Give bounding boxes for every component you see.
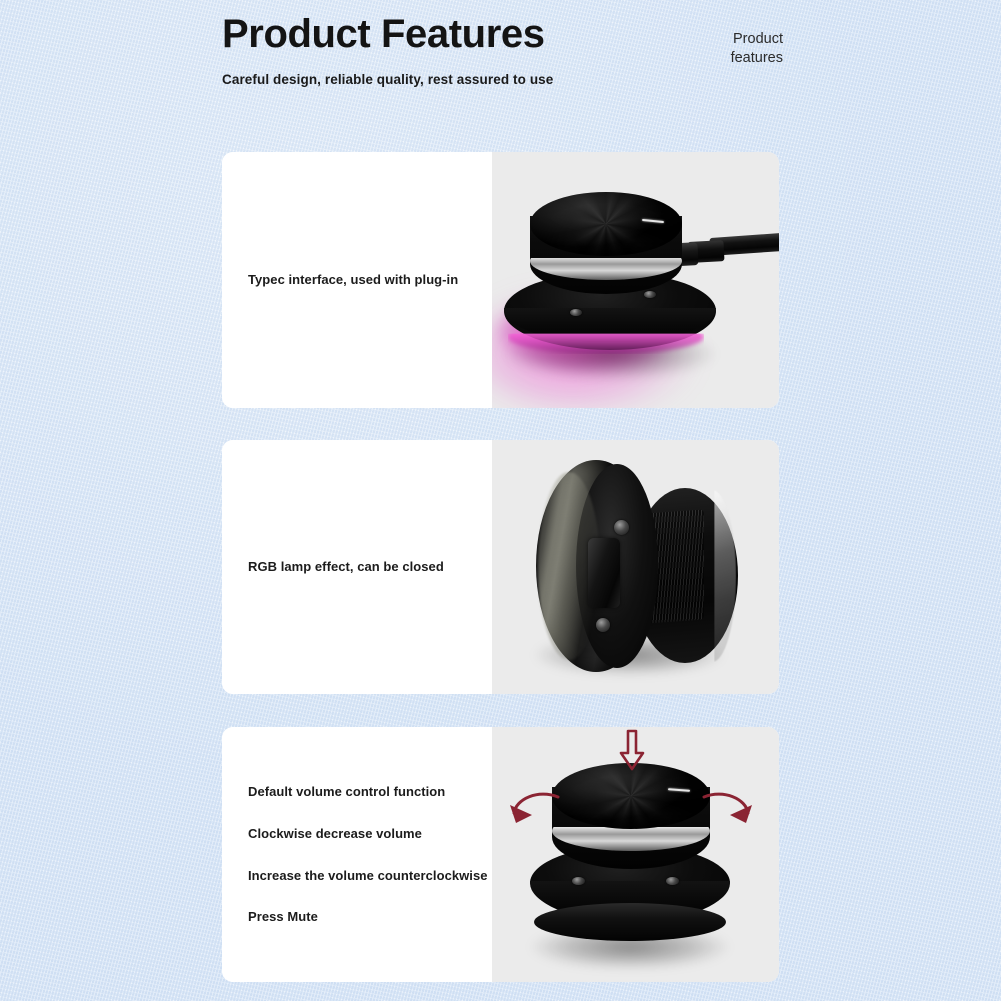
feature-card-controls-text: Default volume control function Clockwis… [222, 727, 492, 982]
feature-line: Press Mute [248, 909, 484, 925]
feature-line: Default volume control function [248, 784, 484, 800]
base-screw [572, 877, 585, 885]
feature-card-controls: Default volume control function Clockwis… [222, 727, 779, 982]
base-lower-lip [534, 903, 726, 941]
knob-shaft-coupling [588, 538, 620, 608]
feature-card-typec: Typec interface, used with plug-in [222, 152, 779, 408]
corner-label-line-1: Product [693, 30, 783, 49]
page-subtitle: Careful design, reliable quality, rest a… [222, 72, 782, 87]
knob-cap [530, 192, 682, 256]
corner-label: Product features [693, 30, 783, 69]
feature-card-rgb: RGB lamp effect, can be closed [222, 440, 779, 694]
feature-card-rgb-image [492, 440, 779, 694]
feature-line: Typec interface, used with plug-in [248, 272, 484, 288]
base-screw [666, 877, 679, 885]
product-features-page: Product Features Careful design, reliabl… [0, 0, 1001, 1001]
feature-card-typec-text: Typec interface, used with plug-in [222, 152, 492, 408]
feature-card-rgb-text: RGB lamp effect, can be closed [222, 440, 492, 694]
rotate-left-arrow-icon [508, 789, 564, 843]
feature-card-controls-image [492, 727, 779, 982]
base-screw [644, 291, 656, 298]
feature-card-typec-image [492, 152, 779, 408]
feature-line: Increase the volume counterclockwise [248, 868, 484, 884]
rotate-right-arrow-icon [698, 789, 754, 843]
feature-line: Clockwise decrease volume [248, 826, 484, 842]
base-screw [570, 309, 582, 316]
base-screw [596, 618, 610, 632]
feature-line: RGB lamp effect, can be closed [248, 559, 484, 575]
base-screw [614, 520, 629, 535]
press-arrow-icon [610, 729, 654, 773]
corner-label-line-2: features [693, 49, 783, 68]
